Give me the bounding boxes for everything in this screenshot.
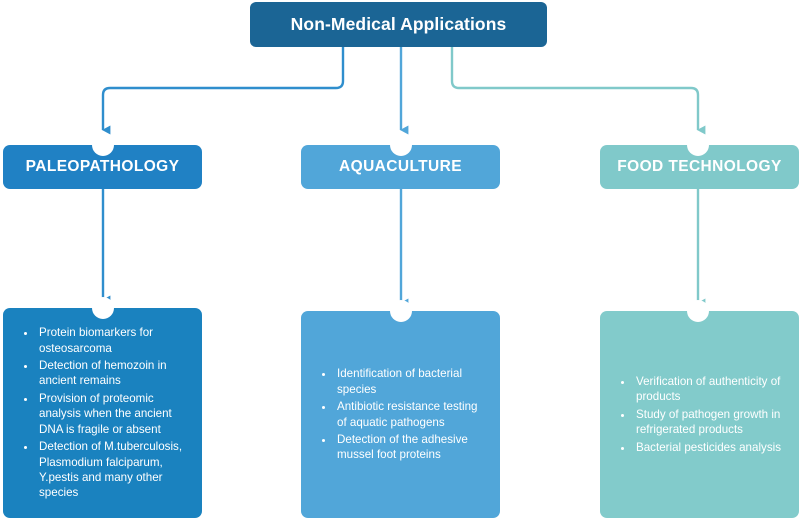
notch-circle-paleopathology-body [92,297,114,319]
list-item: Verification of authenticity of products [634,374,785,405]
root-node-label: Non-Medical Applications [291,14,507,35]
root-node-non-medical-applications[interactable]: Non-Medical Applications [250,2,547,47]
list-item: Antibiotic resistance testing of aquatic… [335,399,486,430]
notch-circle-paleopathology-header [92,134,114,156]
category-header-label-paleopathology: PALEOPATHOLOGY [26,158,180,176]
connector-root-to-paleopathology [103,47,343,130]
list-item: Protein biomarkers for osteosarcoma [37,325,188,356]
category-body-food-technology: Verification of authenticity of products… [600,311,799,518]
category-body-aquaculture: Identification of bacterial speciesAntib… [301,311,500,518]
list-item: Detection of M.tuberculosis, Plasmodium … [37,439,188,501]
category-body-paleopathology: Protein biomarkers for osteosarcomaDetec… [3,308,202,518]
list-item: Bacterial pesticides analysis [634,440,785,455]
list-item: Detection of the adhesive mussel foot pr… [335,432,486,463]
list-item: Study of pathogen growth in refrigerated… [634,407,785,438]
diagram-canvas: Non-Medical Applications PALEOPATHOLOGY … [0,0,800,520]
notch-circle-food-technology-header [687,134,709,156]
bullet-list-food-technology: Verification of authenticity of products… [600,374,799,455]
notch-circle-food-technology-body [687,300,709,322]
category-header-label-aquaculture: AQUACULTURE [339,158,462,176]
connector-root-to-food-technology [452,47,698,130]
bullet-list-aquaculture: Identification of bacterial speciesAntib… [301,366,500,462]
category-header-label-food-technology: FOOD TECHNOLOGY [617,158,781,176]
notch-circle-aquaculture-header [390,134,412,156]
list-item: Provision of proteomic analysis when the… [37,391,188,437]
bullet-list-paleopathology: Protein biomarkers for osteosarcomaDetec… [3,325,202,500]
list-item: Detection of hemozoin in ancient remains [37,358,188,389]
list-item: Identification of bacterial species [335,366,486,397]
notch-circle-aquaculture-body [390,300,412,322]
